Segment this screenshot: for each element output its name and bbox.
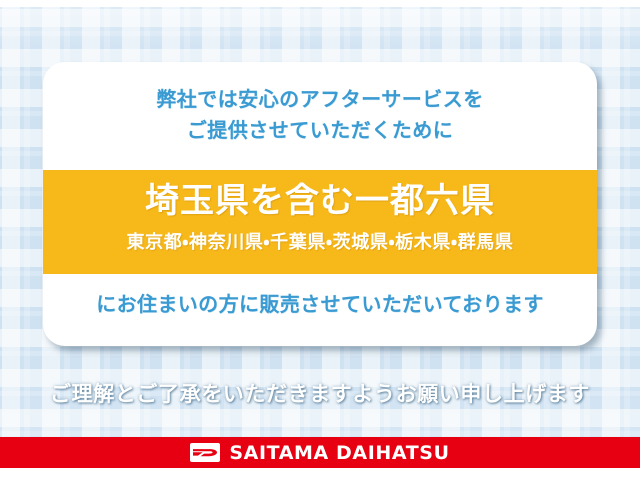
footer-wordmark: SAITAMA DAIHATSU [229, 442, 449, 464]
band-prefecture-list: 東京都・神奈川県・千葉県・茨城県・栃木県・群馬県 [43, 230, 597, 256]
highlight-band: 埼玉県を含む一都六県 東京都・神奈川県・千葉県・茨城県・栃木県・群馬県 [43, 170, 597, 274]
daihatsu-d-icon [190, 443, 220, 462]
promo-banner: 弊社では安心のアフターサービスを ご提供させていただくために 埼玉県を含む一都六… [0, 0, 640, 480]
band-headline: 埼玉県を含む一都六県 [43, 179, 597, 223]
message-card: 弊社では安心のアフターサービスを ご提供させていただくために 埼玉県を含む一都六… [43, 62, 597, 346]
top-white-margin [0, 0, 640, 7]
card-intro-line-2: ご提供させていただくために [43, 115, 597, 146]
card-intro-text: 弊社では安心のアフターサービスを ご提供させていただくために [43, 84, 597, 146]
card-intro-line-1: 弊社では安心のアフターサービスを [43, 84, 597, 115]
footer-logo-group: SAITAMA DAIHATSU [190, 442, 449, 464]
request-note: ご理解とご了承をいただきますようお願い申し上げます [0, 380, 640, 408]
card-closing-text: にお住まいの方に販売させていただいております [43, 290, 597, 318]
footer-brand-bar: SAITAMA DAIHATSU [0, 437, 640, 468]
bottom-white-margin [0, 468, 640, 480]
